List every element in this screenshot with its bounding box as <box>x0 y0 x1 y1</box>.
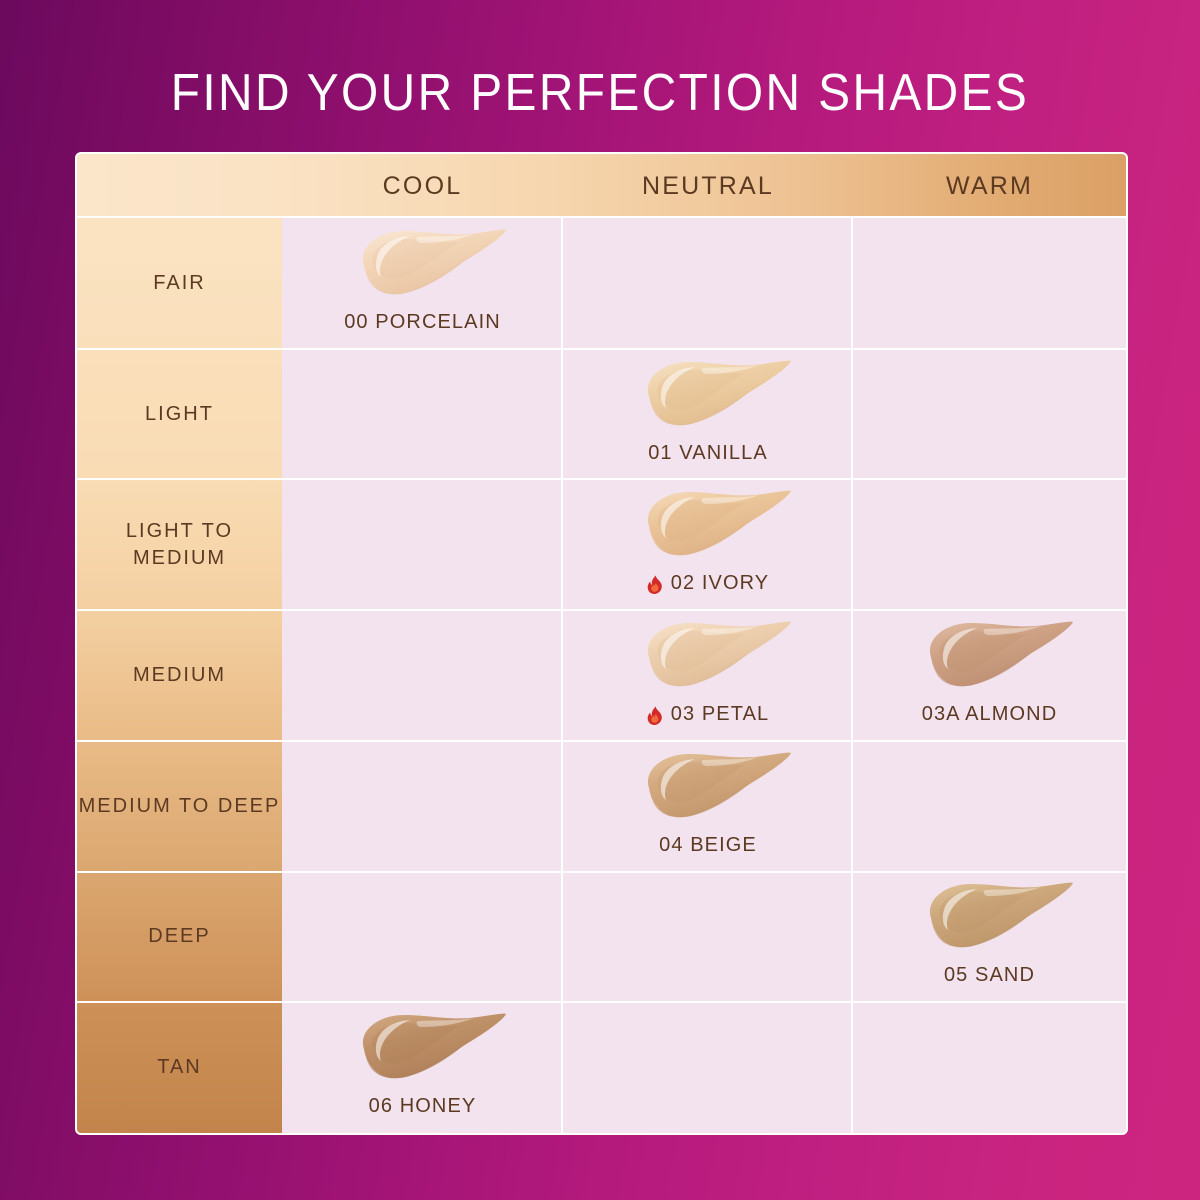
shade-name-text: 03A ALMOND <box>922 703 1058 726</box>
shade-cell-01-vanilla[interactable]: 01 VANILLA <box>563 349 853 480</box>
shade-cell-empty-fair-neutral <box>563 218 853 349</box>
table-row: MEDIUM TO DEEP 04 BEIGE <box>77 741 1126 872</box>
shade-swatch[interactable]: 05 SAND <box>853 872 1126 991</box>
table-row: DEEP 05 SAND <box>77 872 1126 1003</box>
row-label-text: FAIR <box>153 270 205 297</box>
shade-name-text: 06 HONEY <box>369 1095 477 1118</box>
shade-cell-06-honey[interactable]: 06 HONEY <box>282 1002 563 1133</box>
shade-label: 01 VANILLA <box>648 442 768 465</box>
row-label-medium-to-deep: MEDIUM TO DEEP <box>77 741 282 872</box>
table-row: MEDIUM 03 PETAL <box>77 610 1126 741</box>
shade-cell-02-ivory[interactable]: 02 IVORY <box>563 479 853 610</box>
row-label-text: MEDIUM TO DEEP <box>79 793 281 820</box>
shade-name-text: 05 SAND <box>944 964 1035 987</box>
shade-cell-05-sand[interactable]: 05 SAND <box>853 872 1126 1003</box>
row-label-text: LIGHT <box>145 401 214 428</box>
shade-label: 00 PORCELAIN <box>344 311 501 334</box>
shade-cell-empty-tan-neutral <box>563 1002 853 1133</box>
shade-label: 03 PETAL <box>647 703 769 726</box>
row-label-light: LIGHT <box>77 349 282 480</box>
shade-name-text: 03 PETAL <box>671 703 769 726</box>
shade-cell-03-petal[interactable]: 03 PETAL <box>563 610 853 741</box>
row-label-light-to-medium: LIGHT TO MEDIUM <box>77 479 282 610</box>
flame-icon <box>647 706 664 726</box>
shade-cell-00-porcelain[interactable]: 00 PORCELAIN <box>282 218 563 349</box>
shade-swatch[interactable]: 03A ALMOND <box>853 610 1126 729</box>
shade-swatch-graphic <box>623 613 793 699</box>
shade-cell-03a-almond[interactable]: 03A ALMOND <box>853 610 1126 741</box>
shade-cell-empty-fair-warm <box>853 218 1126 349</box>
shade-swatch-graphic <box>623 482 793 568</box>
shade-cell-empty-light-warm <box>853 349 1126 480</box>
table-row: TAN 06 HONEY <box>77 1002 1126 1133</box>
shade-swatch-graphic <box>338 221 508 307</box>
shade-name-text: 01 VANILLA <box>648 442 768 465</box>
table-row: FAIR 00 PORCELAIN <box>77 218 1126 349</box>
row-label-tan: TAN <box>77 1002 282 1133</box>
shade-swatch[interactable]: 06 HONEY <box>282 1002 563 1121</box>
shade-cell-04-beige[interactable]: 04 BEIGE <box>563 741 853 872</box>
row-label-text: LIGHT TO MEDIUM <box>77 518 282 572</box>
shade-swatch-graphic <box>905 613 1075 699</box>
page-title: FIND YOUR PERFECTION SHADES <box>48 62 1152 124</box>
shade-name-text: 04 BEIGE <box>659 834 757 857</box>
shade-label: 05 SAND <box>944 964 1035 987</box>
shade-label: 03A ALMOND <box>922 703 1058 726</box>
shade-name-text: 00 PORCELAIN <box>344 311 501 334</box>
row-label-fair: FAIR <box>77 218 282 349</box>
shade-cell-empty-tan-warm <box>853 1002 1126 1133</box>
shade-cell-empty-medium-to-deep-warm <box>853 741 1126 872</box>
row-label-text: DEEP <box>148 923 210 950</box>
shade-cell-empty-light-to-medium-warm <box>853 479 1126 610</box>
shade-swatch[interactable]: 02 IVORY <box>563 479 853 598</box>
table-header-row: COOL NEUTRAL WARM <box>77 154 1126 218</box>
table-row: LIGHT 01 VANILLA <box>77 349 1126 480</box>
column-header-cool: COOL <box>282 154 563 218</box>
shade-swatch-graphic <box>905 874 1075 960</box>
shade-swatch-graphic <box>338 1005 508 1091</box>
shade-swatch[interactable]: 03 PETAL <box>563 610 853 729</box>
shade-swatch[interactable]: 01 VANILLA <box>563 349 853 468</box>
shade-name-text: 02 IVORY <box>671 572 769 595</box>
shade-label: 04 BEIGE <box>659 834 757 857</box>
row-label-medium: MEDIUM <box>77 610 282 741</box>
table-body: FAIR 00 PORCELAINLIGHT <box>77 218 1126 1133</box>
shade-cell-empty-deep-cool <box>282 872 563 1003</box>
row-label-text: TAN <box>157 1054 202 1081</box>
shade-swatch-graphic <box>623 352 793 438</box>
shade-swatch-graphic <box>623 744 793 830</box>
header-corner-cell <box>77 154 282 218</box>
flame-icon <box>647 575 664 595</box>
shade-cell-empty-light-to-medium-cool <box>282 479 563 610</box>
shade-cell-empty-medium-cool <box>282 610 563 741</box>
table-row: LIGHT TO MEDIUM 02 IVORY <box>77 479 1126 610</box>
shade-cell-empty-deep-neutral <box>563 872 853 1003</box>
column-header-neutral: NEUTRAL <box>563 154 853 218</box>
shade-cell-empty-light-cool <box>282 349 563 480</box>
shade-cell-empty-medium-to-deep-cool <box>282 741 563 872</box>
row-label-text: MEDIUM <box>133 662 226 689</box>
shade-matrix-table: COOL NEUTRAL WARM FAIR 00 PORCELAINLIGHT <box>75 152 1128 1135</box>
shade-label: 06 HONEY <box>369 1095 477 1118</box>
column-header-warm: WARM <box>853 154 1126 218</box>
shade-swatch[interactable]: 04 BEIGE <box>563 741 853 860</box>
row-label-deep: DEEP <box>77 872 282 1003</box>
shade-label: 02 IVORY <box>647 572 769 595</box>
shade-swatch[interactable]: 00 PORCELAIN <box>282 218 563 337</box>
